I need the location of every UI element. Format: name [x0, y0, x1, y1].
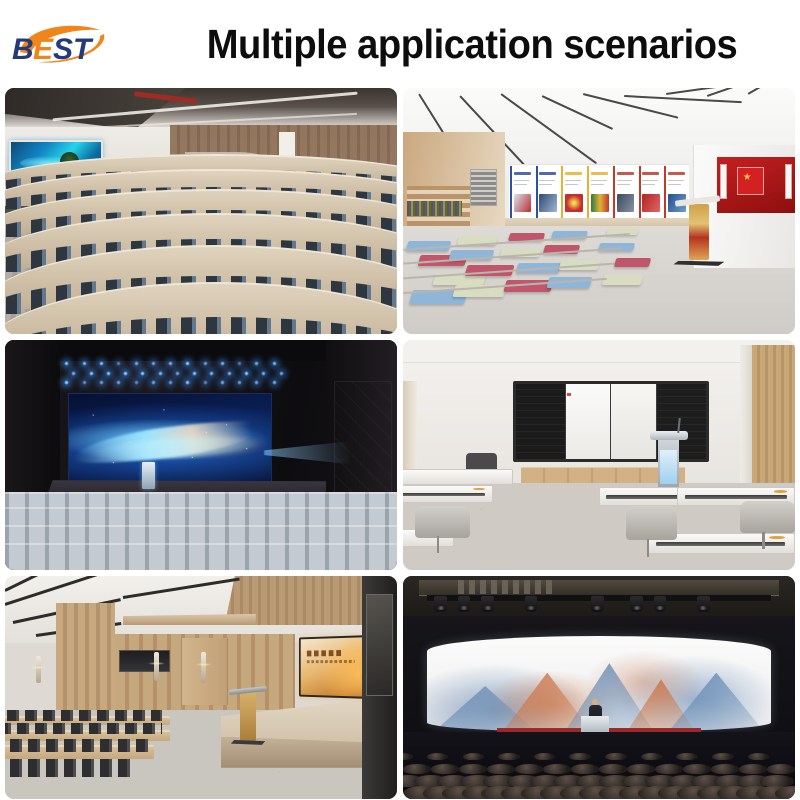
books — [407, 201, 462, 216]
audience-head — [427, 753, 449, 761]
grid-cabinet — [470, 169, 497, 206]
stage-light — [279, 371, 284, 376]
gallery-item-lecture-hall[interactable] — [5, 88, 397, 334]
gold-lectern — [689, 204, 709, 261]
stage-light — [82, 380, 87, 385]
stage-light — [64, 380, 69, 385]
spotlight — [697, 596, 710, 612]
panel-photo — [591, 194, 609, 212]
seat-row — [5, 543, 397, 570]
spotlight — [654, 596, 667, 612]
stage-light — [237, 380, 242, 385]
stage-light — [272, 361, 277, 366]
seat-chairs — [5, 317, 397, 334]
spotlight — [434, 596, 447, 612]
ceiling — [403, 340, 795, 363]
desk-lift-slot — [656, 542, 785, 546]
panel-title-bar — [617, 172, 634, 175]
stage-light — [140, 371, 145, 376]
student-chair — [415, 506, 470, 538]
exhibition-panel — [536, 166, 560, 220]
chair-row — [5, 739, 154, 752]
panel-text-line — [617, 184, 630, 185]
stage-light — [134, 380, 139, 385]
gold-lectern — [240, 692, 256, 741]
panel-title-bar — [642, 172, 659, 175]
student-desk — [403, 469, 513, 485]
audience-head — [655, 764, 683, 774]
desk-knob — [769, 536, 785, 539]
audience-head — [515, 764, 543, 774]
chair-row — [5, 710, 162, 721]
desk-lift-slot — [403, 493, 485, 497]
stage-light — [116, 361, 121, 366]
stage-light — [71, 371, 76, 376]
stage-light — [106, 371, 111, 376]
audience-head — [403, 764, 431, 774]
blackboard-left-leaf — [516, 384, 565, 459]
spotlight — [458, 596, 471, 612]
stage-light — [272, 380, 277, 385]
panel-text-line — [514, 184, 527, 185]
audience-head — [676, 753, 698, 761]
exhibition-panel — [510, 166, 534, 220]
board-card — [720, 164, 727, 199]
panel-photo — [642, 194, 660, 212]
gallery-item-conference-hall[interactable] — [403, 576, 795, 799]
red-exhibition-board — [717, 157, 795, 214]
page-header: B E S T Multiple application scenarios — [0, 0, 800, 88]
audience-head — [599, 764, 627, 774]
stage-light — [89, 371, 94, 376]
audience-head — [748, 753, 770, 761]
svg-text:S: S — [53, 33, 73, 66]
desk-lift-slot — [685, 495, 787, 499]
stage-light — [220, 380, 225, 385]
stage-light — [244, 371, 249, 376]
led-subtext — [307, 660, 354, 663]
led-headline-text — [307, 650, 342, 656]
student-chair — [740, 501, 795, 533]
page-title: Multiple application scenarios — [174, 12, 769, 76]
hall-name-signage — [458, 580, 552, 593]
stage-light — [116, 380, 121, 385]
audience-head — [487, 764, 515, 774]
right-dark-panel — [362, 576, 397, 799]
panel-title-bar — [591, 172, 608, 175]
panel-text-line — [514, 180, 530, 181]
stage-light — [220, 361, 225, 366]
audience — [403, 732, 795, 799]
panel-text-line — [591, 180, 607, 181]
spotlight — [630, 596, 643, 612]
led-stage-screen — [68, 393, 272, 483]
audience-seating — [5, 492, 397, 570]
audience-head — [463, 753, 485, 761]
best-logo: B E S T — [8, 18, 116, 70]
panel-text-line — [591, 184, 604, 185]
stage-light — [99, 361, 104, 366]
indicator-light — [567, 393, 571, 396]
floor-lamp — [201, 652, 206, 683]
stage-light — [99, 380, 104, 385]
stage-light — [237, 361, 242, 366]
stage-light — [227, 371, 232, 376]
stage-light — [185, 380, 190, 385]
svg-text:T: T — [73, 33, 94, 66]
wall-monitor — [119, 650, 170, 672]
stage-light — [82, 361, 87, 366]
panel-text-line — [565, 180, 581, 181]
audience-head — [683, 764, 711, 774]
gallery-item-classroom[interactable] — [403, 340, 795, 570]
stage-lighting-rig — [60, 358, 287, 395]
seating-mat — [601, 275, 643, 285]
audience-head — [711, 764, 739, 774]
chair-row — [5, 723, 162, 734]
student-desk — [403, 485, 493, 503]
stage-light — [209, 371, 214, 376]
exhibition-panel — [639, 166, 663, 220]
panel-text-line — [539, 180, 555, 181]
exhibition-panel — [613, 166, 637, 220]
floor-lamp — [154, 652, 159, 681]
stage-light — [168, 380, 173, 385]
exhibition-panel — [587, 166, 611, 220]
panel-photo — [565, 194, 583, 212]
panel-text-line — [565, 184, 578, 185]
scenario-gallery-grid — [5, 88, 795, 795]
audience-head — [534, 753, 556, 761]
stage-light — [261, 371, 266, 376]
best-logo-mark: B E S T — [8, 18, 116, 70]
seating-mat — [613, 258, 651, 267]
panel-text-line — [539, 184, 552, 185]
stage-light — [151, 380, 156, 385]
student-chair — [626, 506, 677, 541]
panel-title-bar — [514, 172, 531, 175]
stage-light — [185, 361, 190, 366]
audience-head — [767, 764, 795, 774]
party-flag — [737, 167, 764, 195]
spotlight — [525, 596, 538, 612]
panel-text-line — [668, 184, 681, 185]
stage-light — [254, 380, 259, 385]
wood-column — [56, 603, 115, 715]
audience-head — [543, 764, 571, 774]
audience-head — [627, 764, 655, 774]
lectern-top — [650, 431, 688, 440]
lectern-touch-panel — [660, 450, 676, 483]
stage-light — [123, 371, 128, 376]
whiteboard-leaf-2 — [610, 384, 656, 459]
stage-light — [203, 361, 208, 366]
audience-head — [431, 764, 459, 774]
panel-title-bar — [565, 172, 582, 175]
exhibition-panel-wall — [509, 164, 689, 221]
stage-light — [134, 361, 139, 366]
svg-text:E: E — [33, 33, 54, 66]
whiteboard-leaf-1 — [565, 384, 611, 459]
audience-head — [605, 753, 627, 761]
gallery-item-theater-stage[interactable] — [5, 340, 397, 570]
gallery-item-activity-room[interactable] — [403, 88, 795, 334]
panel-text-line — [668, 180, 684, 181]
panel-photo — [514, 194, 532, 212]
audience-head — [498, 753, 520, 761]
stage-light — [151, 361, 156, 366]
panel-photo — [617, 194, 635, 212]
svg-text:B: B — [12, 33, 33, 66]
audience-head — [739, 764, 767, 774]
desk-knob — [473, 488, 485, 491]
stage-light — [203, 380, 208, 385]
audience-head — [641, 753, 663, 761]
panel-title-bar — [539, 172, 556, 175]
stage-light — [158, 371, 163, 376]
floor-lamp — [36, 656, 41, 683]
landscape-peak — [668, 673, 765, 732]
audience-head — [712, 753, 734, 761]
chair-row — [5, 759, 130, 777]
panel-photo — [539, 194, 557, 212]
panel-text-line — [642, 180, 658, 181]
page-root: B E S T Multiple application scenarios — [0, 0, 800, 800]
gallery-item-training-room[interactable] — [5, 576, 397, 799]
desk-knob — [774, 490, 787, 493]
spotlight — [591, 596, 604, 612]
panel-text-line — [642, 184, 655, 185]
audience-head — [571, 764, 599, 774]
audience-head — [403, 753, 413, 761]
audience-head — [569, 753, 591, 761]
glass-window — [366, 594, 393, 697]
stage-light — [64, 361, 69, 366]
audience-head — [459, 764, 487, 774]
stage-light — [168, 361, 173, 366]
audience-head — [775, 786, 795, 799]
left-cabinet — [403, 381, 417, 482]
smart-lectern — [658, 432, 680, 490]
stage-light — [192, 371, 197, 376]
panel-text-line — [617, 180, 633, 181]
lectern — [142, 462, 155, 490]
stage-light — [175, 371, 180, 376]
exhibition-panel — [664, 166, 688, 220]
board-card — [785, 164, 792, 199]
panel-title-bar — [668, 172, 685, 175]
stage-light — [254, 361, 259, 366]
exhibition-panel — [561, 166, 585, 220]
spotlight — [481, 596, 494, 612]
